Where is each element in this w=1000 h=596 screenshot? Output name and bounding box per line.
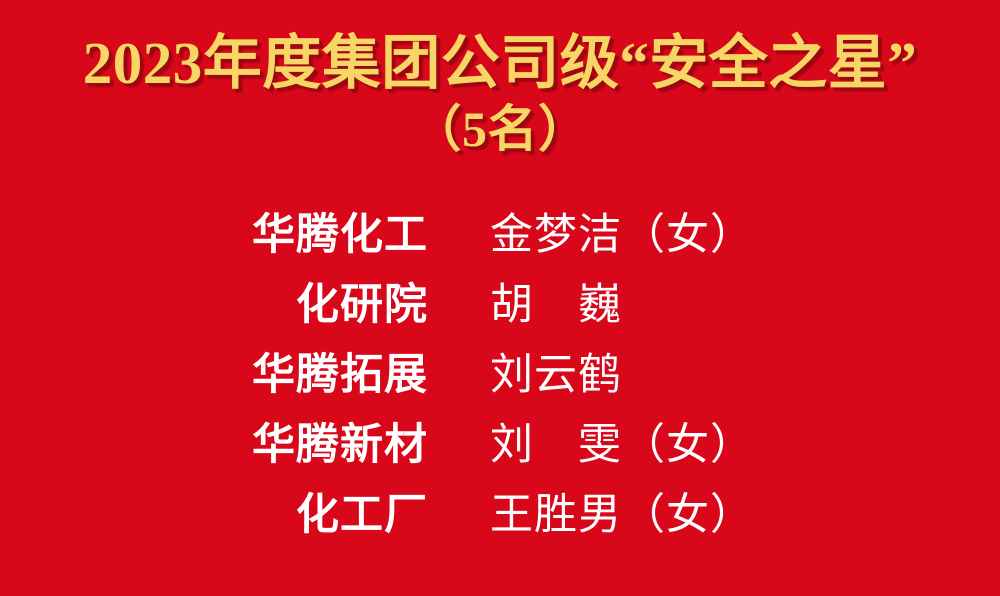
winner-name: 胡 巍 (490, 271, 622, 341)
winner-row: 化工厂 王胜男（女） (0, 480, 1000, 550)
winner-list: 华腾化工 金梦洁（女） 化研院 胡 巍 华腾拓展 刘云鹤 华腾新材 刘 雯（女）… (0, 200, 1000, 550)
title-block: 2023年度集团公司级“安全之星” （5名） (0, 0, 1000, 154)
winner-organization: 化研院 (0, 270, 428, 340)
winner-name: 王胜男（女） (490, 481, 754, 551)
winner-organization: 华腾拓展 (0, 340, 428, 410)
winner-organization: 化工厂 (0, 480, 428, 550)
winner-row: 华腾新材 刘 雯（女） (0, 410, 1000, 480)
honor-poster: 2023年度集团公司级“安全之星” （5名） 华腾化工 金梦洁（女） 化研院 胡… (0, 0, 1000, 596)
winner-organization: 华腾化工 (0, 200, 428, 270)
winner-organization: 华腾新材 (0, 410, 428, 480)
winner-row: 华腾化工 金梦洁（女） (0, 200, 1000, 270)
winner-row: 化研院 胡 巍 (0, 270, 1000, 340)
poster-title-count: （5名） (0, 104, 1000, 154)
winner-name: 刘云鹤 (490, 341, 622, 411)
poster-title-main: 2023年度集团公司级“安全之星” (0, 34, 1000, 93)
winner-row: 华腾拓展 刘云鹤 (0, 340, 1000, 410)
winner-name: 刘 雯（女） (490, 411, 754, 481)
winner-name: 金梦洁（女） (490, 201, 754, 271)
